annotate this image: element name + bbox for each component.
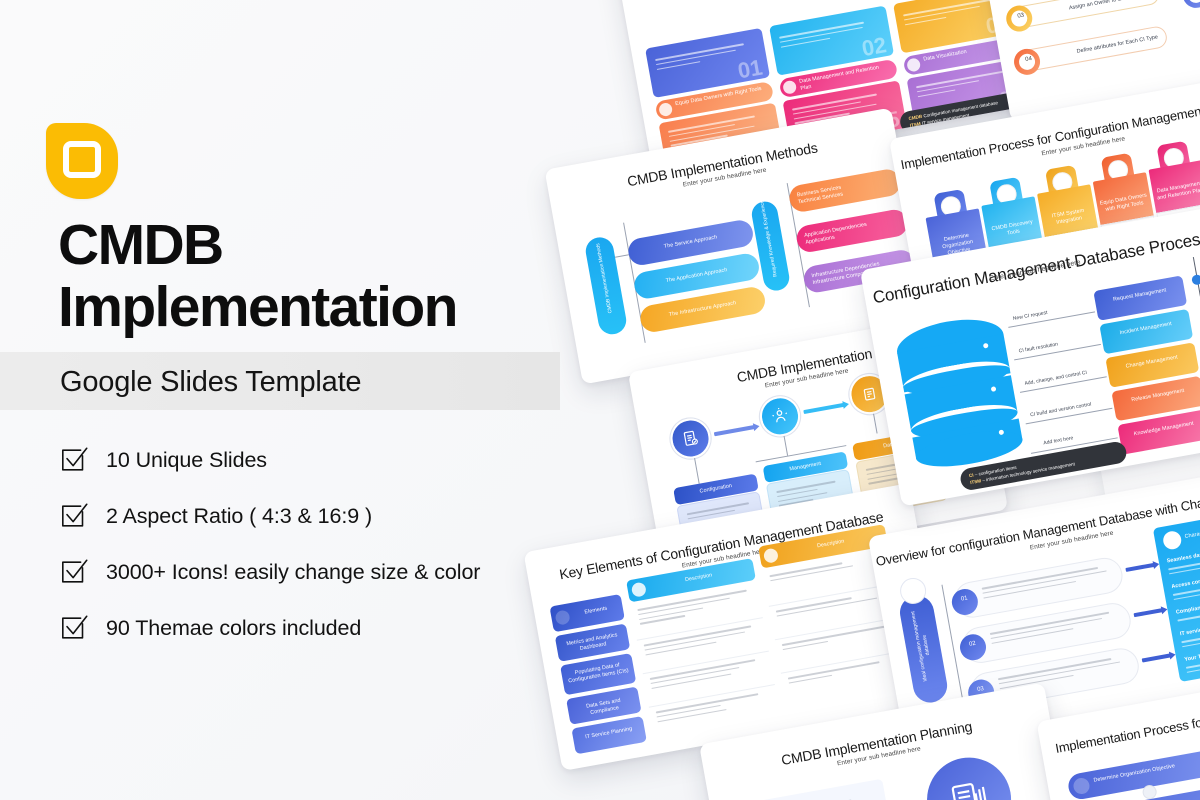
root-label: Required Knowledge & Experience — [759, 199, 779, 277]
method-label: The Service Approach — [628, 228, 753, 257]
feature-item: 10 Unique Slides — [60, 432, 560, 488]
checkbox-checked-icon — [60, 501, 90, 531]
item-label: Determine Organization Objective — [1093, 756, 1200, 785]
checkbox-checked-icon — [60, 445, 90, 475]
feature-list: 10 Unique Slides 2 Aspect Ratio ( 4:3 & … — [60, 432, 560, 656]
legend-key: ITSM — [970, 478, 982, 485]
method-label: The Application Approach — [634, 262, 759, 291]
page-title: CMDB Implementation — [58, 214, 528, 338]
column-label: CMDB Discovery Tools — [988, 218, 1038, 240]
logo-inner-shape — [63, 141, 101, 178]
legend-key: ITSM — [909, 121, 921, 128]
database-cylinder-icon — [892, 304, 1026, 477]
process-label: Release Management — [1113, 385, 1200, 408]
column-label: ITSM System Integration — [1044, 206, 1094, 228]
feature-item: 3000+ Icons! easily change size & color — [60, 544, 560, 600]
feature-label: 10 Unique Slides — [106, 448, 267, 473]
root-label: CMDB Implementation Methods — [594, 238, 615, 318]
method-label: Application Dependencies Applications — [804, 216, 903, 247]
element-label: IT Service Planning — [577, 725, 641, 743]
feature-item: 2 Aspect Ratio ( 4:3 & 16:9 ) — [60, 488, 560, 544]
page-subtitle: Google Slides Template — [60, 362, 361, 402]
card-number: 01 — [736, 55, 765, 85]
element-header: Elements — [573, 604, 620, 619]
feature-label: 90 Themae colors included — [106, 616, 361, 641]
process-label: Incident Management — [1101, 318, 1191, 341]
element-label: Metrics and Analytics Dashboard — [560, 631, 625, 656]
step-icon-configuration — [667, 415, 713, 461]
element-label: Data Sets and Compliance — [571, 695, 636, 720]
row-label: Define attributes for Each CI Type — [1071, 33, 1165, 57]
process-label: Knowledge Management — [1119, 418, 1200, 441]
feature-label: 3000+ Icons! easily change size & color — [106, 560, 480, 585]
feature-item: 90 Themae colors included — [60, 600, 560, 656]
method-label: Business Services Technical Services — [796, 175, 895, 206]
root-label: Ideal configuration management database — [909, 602, 937, 689]
checkbox-checked-icon — [60, 613, 90, 643]
google-slides-logo-icon — [46, 123, 118, 199]
title-line-2: Implementation — [58, 276, 528, 338]
planning-icon — [920, 751, 1018, 800]
title-line-1: CMDB — [58, 214, 528, 276]
feature-label: 2 Aspect Ratio ( 4:3 & 16:9 ) — [106, 504, 372, 529]
legend-key: CI — [969, 472, 974, 478]
element-label: Populating Data of Configuration Items (… — [565, 661, 630, 686]
method-label: The Infrastructure Approach — [640, 295, 765, 324]
step-icon-management — [757, 393, 803, 439]
checkbox-checked-icon — [60, 557, 90, 587]
row-label: Assign an Owner to Each CI Type — [1063, 0, 1157, 14]
hero-panel: CMDB Implementation Google Slides Templa… — [0, 0, 560, 800]
card-number: 02 — [860, 32, 889, 62]
process-label: Request Management — [1095, 284, 1185, 307]
process-label: Change Management — [1107, 351, 1197, 374]
column-label: Data Management and Retention Plan — [1155, 180, 1200, 202]
column-label: Equip Data Owners with Right Tools — [1099, 192, 1149, 214]
panel-title: Characteristics of CMDBs — [1184, 521, 1200, 541]
poster-canvas: 01 02 03 Equip Data Owner — [0, 0, 1200, 800]
